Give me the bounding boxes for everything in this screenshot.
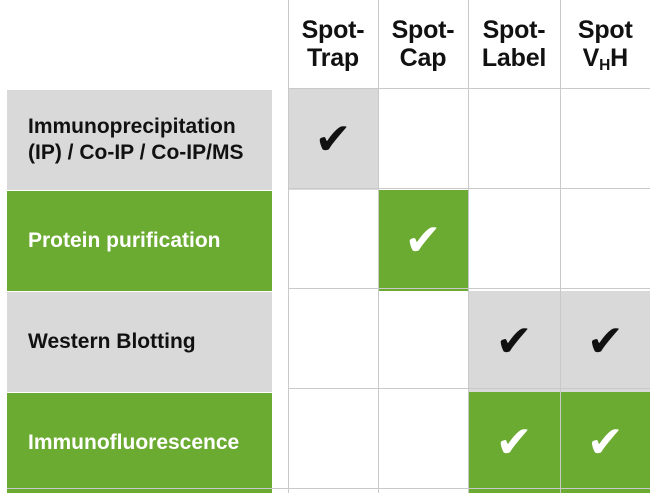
column-header-spot-vhh: Spot VHH — [560, 0, 650, 89]
cell-protein-purification-spot-cap: ✔ — [378, 190, 468, 291]
application-matrix-table: Spot- Trap Spot- Cap Spot- Label Spot VH… — [0, 0, 650, 493]
cell-immunofluorescence-spot-trap — [288, 392, 378, 493]
table-row: Protein purification ✔ — [0, 190, 650, 291]
column-header-line1: Spot- — [289, 16, 378, 44]
row-label-band: Western Blotting — [7, 292, 272, 392]
row-label-band: Immunofluorescence — [7, 393, 272, 493]
row-label-band: Immunoprecipitation (IP) / Co-IP / Co-IP… — [7, 90, 272, 190]
cell-western-blotting-spot-trap — [288, 291, 378, 392]
cell-immunoprecipitation-spot-vhh — [560, 89, 650, 190]
cell-immunoprecipitation-spot-trap: ✔ — [288, 89, 378, 190]
column-header-line2: Label — [469, 44, 560, 72]
column-header-line1: Spot — [561, 16, 650, 44]
row-label-western-blotting: Western Blotting — [0, 291, 288, 392]
column-header-line1: Spot- — [379, 16, 468, 44]
row-label-protein-purification: Protein purification — [0, 190, 288, 291]
row-label-band: Protein purification — [7, 191, 272, 291]
column-header-vhh-subscript: H — [599, 57, 610, 74]
row-label-immunoprecipitation: Immunoprecipitation (IP) / Co-IP / Co-IP… — [0, 89, 288, 190]
cell-western-blotting-spot-label: ✔ — [468, 291, 560, 392]
header-corner-blank — [0, 0, 288, 89]
cell-immunofluorescence-spot-cap — [378, 392, 468, 493]
cell-immunofluorescence-spot-vhh: ✔ — [560, 392, 650, 493]
column-header-line2: Cap — [379, 44, 468, 72]
row-label-line1: Immunoprecipitation — [28, 114, 243, 140]
cell-immunoprecipitation-spot-cap — [378, 89, 468, 190]
cell-immunoprecipitation-spot-label — [468, 89, 560, 190]
row-label-immunofluorescence: Immunofluorescence — [0, 392, 288, 493]
row-label-line2: (IP) / Co-IP / Co-IP/MS — [28, 140, 243, 166]
cell-western-blotting-spot-vhh: ✔ — [560, 291, 650, 392]
checkmark-icon: ✔ — [405, 219, 442, 263]
column-header-vhh-v: V — [583, 44, 599, 72]
checkmark-icon: ✔ — [315, 118, 352, 162]
cell-western-blotting-spot-cap — [378, 291, 468, 392]
column-header-spot-cap: Spot- Cap — [378, 0, 468, 89]
column-header-line1: Spot- — [469, 16, 560, 44]
checkmark-icon: ✔ — [496, 421, 533, 465]
header-row: Spot- Trap Spot- Cap Spot- Label Spot VH… — [0, 0, 650, 89]
checkmark-icon: ✔ — [587, 320, 624, 364]
table-row: Western Blotting ✔ ✔ — [0, 291, 650, 392]
matrix-grid: Spot- Trap Spot- Cap Spot- Label Spot VH… — [0, 0, 650, 493]
table-row: Immunofluorescence ✔ ✔ — [0, 392, 650, 493]
checkmark-icon: ✔ — [496, 320, 533, 364]
column-header-line2: Trap — [289, 44, 378, 72]
cell-protein-purification-spot-vhh — [560, 190, 650, 291]
column-header-spot-label: Spot- Label — [468, 0, 560, 89]
row-label-line1: Western Blotting — [28, 329, 196, 355]
column-header-vhh-tail: H — [610, 44, 628, 72]
cell-immunofluorescence-spot-label: ✔ — [468, 392, 560, 493]
row-label-line1: Protein purification — [28, 228, 221, 254]
table-row: Immunoprecipitation (IP) / Co-IP / Co-IP… — [0, 89, 650, 190]
cell-protein-purification-spot-label — [468, 190, 560, 291]
checkmark-icon: ✔ — [587, 421, 624, 465]
column-header-line2: VHH — [561, 44, 650, 72]
row-label-line1: Immunofluorescence — [28, 430, 239, 456]
cell-protein-purification-spot-trap — [288, 190, 378, 291]
column-header-spot-trap: Spot- Trap — [288, 0, 378, 89]
